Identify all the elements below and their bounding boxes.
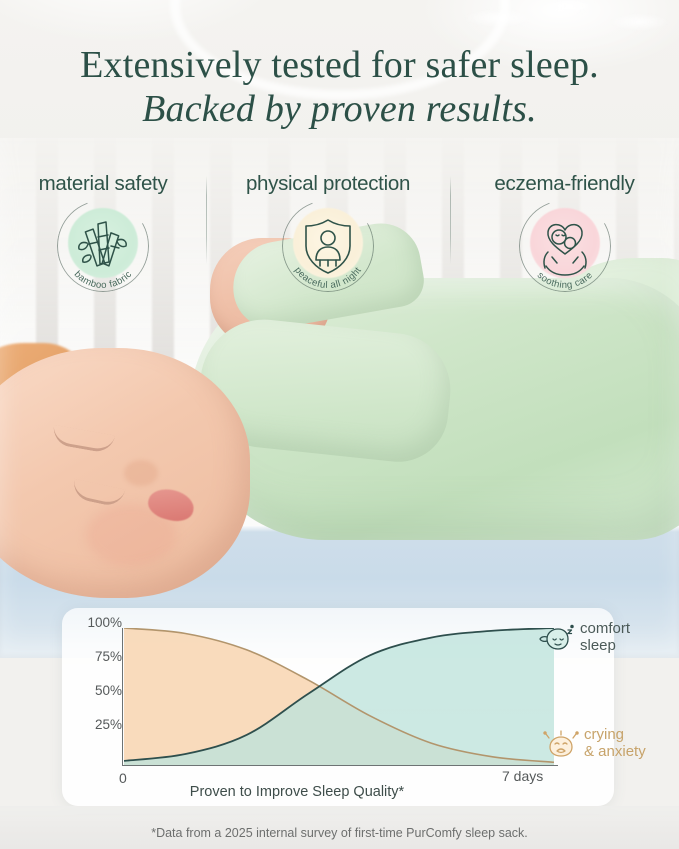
page-title: Extensively tested for safer sleep. Back… [0, 44, 679, 132]
badge-label-text: soothing care [534, 270, 594, 291]
badge-label-text: bamboo fabric [72, 269, 135, 291]
chart-y-axis-line [122, 628, 123, 766]
feature-title: eczema-friendly [450, 172, 679, 196]
svg-text:bamboo fabric: bamboo fabric [72, 269, 135, 291]
feature-title: physical protection [206, 172, 450, 196]
y-tick-50: 50% [76, 684, 122, 697]
headline-line-2: Backed by proven results. [0, 86, 679, 132]
crying-baby-face-icon [542, 730, 580, 760]
legend-comfort-line2: sleep [580, 637, 616, 654]
feature-title: material safety [0, 172, 206, 196]
chart-x-axis-line [122, 765, 558, 766]
legend-comfort-line1: comfort [580, 620, 630, 637]
legend-crying-line2: & anxiety [584, 743, 646, 760]
y-tick-75: 75% [76, 650, 122, 663]
svg-text:peaceful all night: peaceful all night [292, 265, 364, 291]
feature-physical-protection: physical protection peaceful all night [206, 172, 450, 292]
chart-y-axis-labels: 100% 75% 50% 25% [76, 622, 122, 762]
chart-caption: Proven to Improve Sleep Quality* [62, 784, 532, 800]
feature-eczema-friendly: eczema-friendly [450, 172, 679, 292]
legend-comfort-label: comfort sleep [580, 620, 630, 654]
badge-peaceful-all-night: peaceful all night [282, 200, 374, 292]
sleep-quality-chart-card: 100% 75% 50% 25% 0 7 days Proven to Impr… [62, 608, 614, 806]
feature-divider [450, 176, 451, 264]
x-tick-end: 7 days [502, 768, 543, 784]
badge-label: bamboo fabric [57, 200, 149, 292]
chart-plot-area [124, 628, 554, 765]
promo-graphic: Extensively tested for safer sleep. Back… [0, 0, 679, 849]
legend-crying-label: crying & anxiety [584, 726, 646, 760]
footnote: *Data from a 2025 internal survey of fir… [0, 826, 679, 840]
badge-label-text: peaceful all night [292, 265, 364, 291]
badge-label: soothing care [519, 200, 611, 292]
sleeping-baby-face-icon [538, 624, 576, 654]
feature-material-safety: material safety [0, 172, 206, 292]
y-tick-25: 25% [76, 718, 122, 731]
y-tick-100: 100% [76, 616, 122, 629]
legend-crying-line1: crying [584, 726, 624, 743]
badge-label: peaceful all night [282, 200, 374, 292]
feature-divider [206, 176, 207, 264]
svg-text:soothing care: soothing care [534, 270, 594, 291]
badge-soothing-care: soothing care [519, 200, 611, 292]
headline-line-1: Extensively tested for safer sleep. [0, 44, 679, 86]
badge-bamboo-fabric: bamboo fabric [57, 200, 149, 292]
feature-row: material safety [0, 172, 679, 292]
chart-inner: 100% 75% 50% 25% 0 7 days Proven to Impr… [62, 608, 614, 806]
